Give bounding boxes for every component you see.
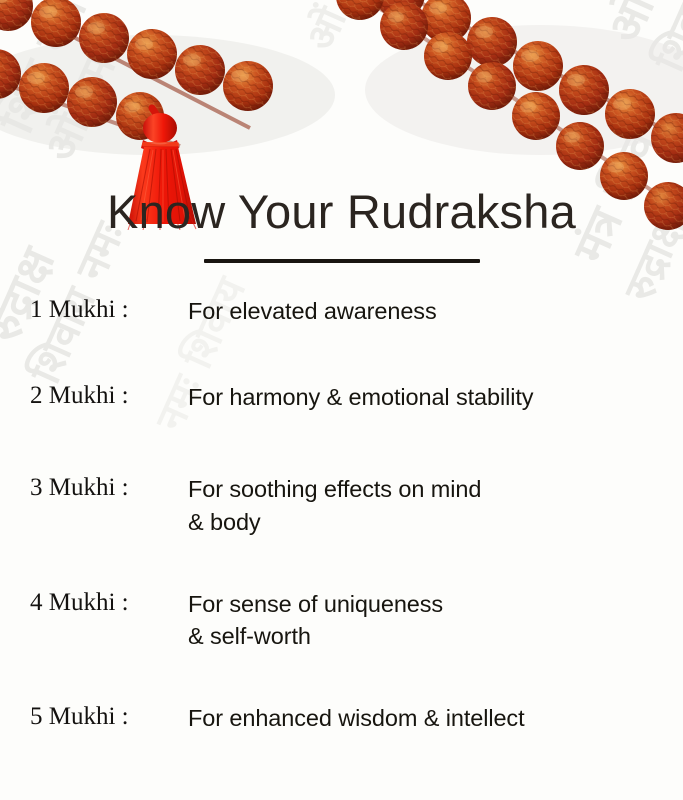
mukhi-label-4: 4 Mukhi :	[30, 587, 188, 619]
watermark-text: ओं शिव	[300, 0, 383, 56]
watermark-text: ओं नमः	[38, 40, 127, 167]
mukhi-description-1: For elevated awareness	[188, 294, 683, 328]
bead-strand-lower-left	[0, 49, 164, 140]
watermark-text: शिवाय	[648, 0, 683, 77]
title-divider	[204, 259, 480, 263]
mukhi-desc-line: For enhanced wisdom & intellect	[188, 705, 525, 731]
list-item: 2 Mukhi : For harmony & emotional stabil…	[0, 380, 683, 414]
mukhi-label-5: 5 Mukhi :	[30, 701, 188, 733]
page-title: Know Your Rudraksha	[0, 186, 683, 239]
bead-strand-upper-left	[0, 0, 273, 111]
mukhi-label-3: 3 Mukhi :	[30, 472, 188, 504]
mukhi-desc-line: For elevated awareness	[188, 298, 437, 324]
list-item: 4 Mukhi : For sense of uniqueness & self…	[0, 587, 683, 654]
mukhi-description-4: For sense of uniqueness & self-worth	[188, 587, 683, 654]
mukhi-description-3: For soothing effects on mind & body	[188, 472, 683, 539]
bead-strand-upper-right	[375, 0, 683, 163]
mukhi-desc-line: & body	[188, 506, 683, 539]
rudraksha-poster: शिव मंत्र ओं नमः रुद्राक्ष शिवाय नमः ओं …	[0, 0, 683, 800]
mukhi-desc-line: For sense of uniqueness	[188, 591, 443, 617]
mukhi-description-2: For harmony & emotional stability	[188, 380, 683, 414]
watermark-text: शिव मंत्र	[0, 0, 94, 140]
mukhi-label-1: 1 Mukhi :	[30, 294, 188, 326]
mukhi-description-5: For enhanced wisdom & intellect	[188, 701, 683, 735]
mukhi-desc-line: For soothing effects on mind	[188, 476, 481, 502]
mukhi-desc-line: For harmony & emotional stability	[188, 384, 533, 410]
watermark-text: ओं नमः	[600, 0, 683, 49]
list-item: 5 Mukhi : For enhanced wisdom & intellec…	[0, 701, 683, 735]
list-item: 3 Mukhi : For soothing effects on mind &…	[0, 472, 683, 539]
mukhi-label-2: 2 Mukhi :	[30, 380, 188, 412]
mukhi-desc-line: & self-worth	[188, 620, 683, 653]
heading-block: Know Your Rudraksha	[0, 186, 683, 263]
list-item: 1 Mukhi : For elevated awareness	[0, 294, 683, 328]
mukhi-list: 1 Mukhi : For elevated awareness 2 Mukhi…	[0, 294, 683, 735]
